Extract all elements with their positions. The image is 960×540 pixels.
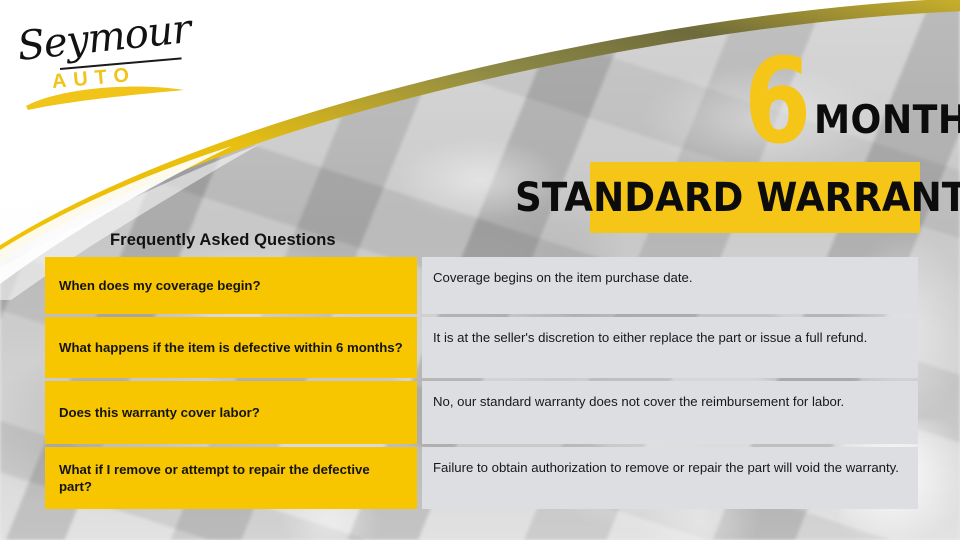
standard-warranty-banner-label: STANDARD WARRANTY [515, 177, 960, 219]
faq-section-title: Frequently Asked Questions [110, 231, 336, 250]
table-row: What if I remove or attempt to repair th… [45, 447, 918, 509]
faq-question-text: Does this warranty cover labor? [59, 404, 260, 421]
warranty-term-unit: MONTH [814, 101, 960, 141]
table-row: When does my coverage begin? Coverage be… [45, 257, 918, 314]
faq-question-cell: What if I remove or attempt to repair th… [45, 447, 417, 509]
faq-answer-text: Coverage begins on the item purchase dat… [433, 269, 907, 287]
warranty-term-number: 6 [744, 46, 810, 156]
faq-answer-cell: No, our standard warranty does not cover… [422, 381, 918, 444]
seymour-auto-logo: Seymour AUTO [14, 16, 194, 111]
faq-answer-cell: Coverage begins on the item purchase dat… [422, 257, 918, 314]
faq-answer-text: Failure to obtain authorization to remov… [433, 459, 907, 477]
faq-answer-text: No, our standard warranty does not cover… [433, 393, 907, 411]
faq-table: When does my coverage begin? Coverage be… [45, 257, 918, 509]
faq-question-cell: When does my coverage begin? [45, 257, 417, 314]
faq-question-text: What if I remove or attempt to repair th… [59, 461, 403, 495]
table-row: Does this warranty cover labor? No, our … [45, 381, 918, 444]
faq-question-text: When does my coverage begin? [59, 277, 261, 294]
logo-wordmark: Seymour [15, 6, 192, 70]
faq-answer-cell: It is at the seller's discretion to eith… [422, 317, 918, 378]
standard-warranty-banner: STANDARD WARRANTY [590, 162, 920, 233]
faq-answer-cell: Failure to obtain authorization to remov… [422, 447, 918, 509]
table-row: What happens if the item is defective wi… [45, 317, 918, 378]
faq-question-cell: What happens if the item is defective wi… [45, 317, 417, 378]
faq-question-text: What happens if the item is defective wi… [59, 339, 403, 356]
warranty-slide: Seymour AUTO 6 MONTH STANDARD WARRANTY F… [0, 0, 960, 540]
faq-answer-text: It is at the seller's discretion to eith… [433, 329, 907, 347]
faq-question-cell: Does this warranty cover labor? [45, 381, 417, 444]
